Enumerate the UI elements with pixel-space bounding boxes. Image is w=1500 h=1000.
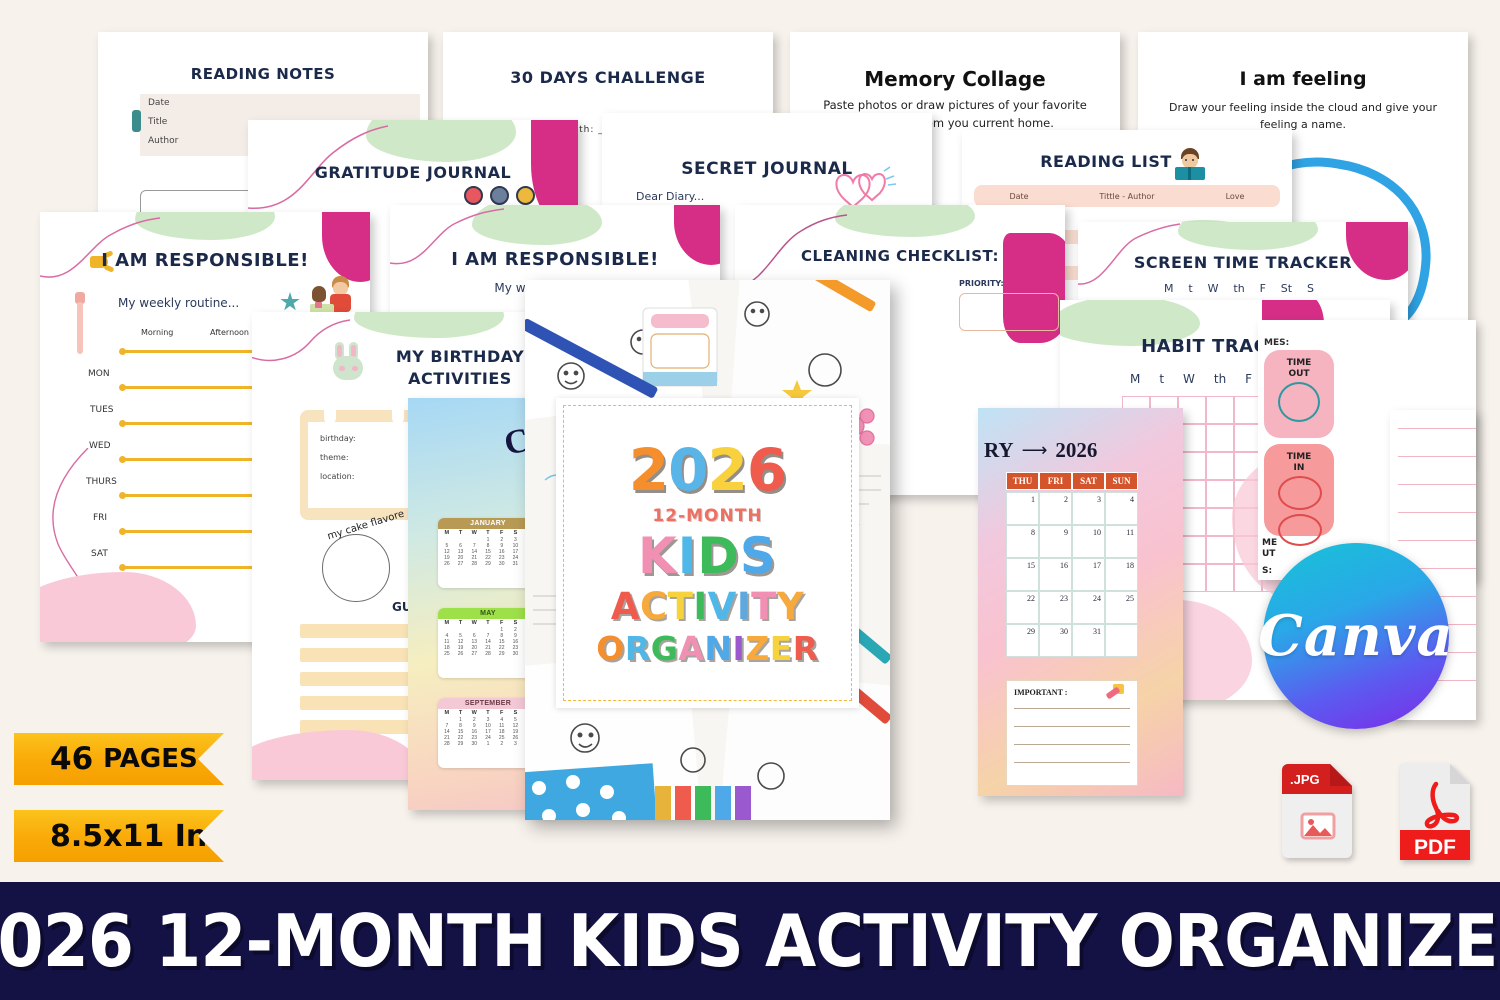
st-day-f: F bbox=[1260, 282, 1266, 295]
i-am-responsible-title: I AM RESPONSIBLE! bbox=[40, 250, 370, 271]
cover-organizer-char: O bbox=[596, 629, 625, 668]
cover-year-char: 2 bbox=[629, 436, 668, 504]
toothbrush-icon bbox=[71, 292, 89, 356]
ht-day-w: W bbox=[1183, 372, 1195, 386]
mini-calendar-september[interactable]: SEPTEMBER MTWTFSS 123456 78910111213 141… bbox=[438, 698, 538, 768]
day-tues: TUES bbox=[90, 405, 113, 415]
label-me-ut: MEUT bbox=[1262, 538, 1277, 560]
cover-activity: ACTIVITY bbox=[611, 588, 804, 625]
jpg-file-icon[interactable]: .JPG bbox=[1278, 762, 1356, 862]
day-wed: WED bbox=[89, 441, 111, 451]
cover-kids-char: S bbox=[740, 527, 777, 585]
routine-dot bbox=[119, 564, 126, 571]
i-am-feeling-subtitle: Draw your feeling inside the cloud and g… bbox=[1158, 100, 1448, 133]
reading-list-title: READING LIST bbox=[962, 152, 1292, 171]
cover-organizer-char: R bbox=[793, 629, 819, 668]
st-day-th: th bbox=[1233, 282, 1244, 295]
st-day-st: St bbox=[1281, 282, 1292, 295]
routine-dot bbox=[119, 492, 126, 499]
lined-row bbox=[1398, 484, 1476, 485]
label-s: S: bbox=[1262, 566, 1272, 576]
day-sun: SUN bbox=[91, 585, 110, 595]
clip-right-icon bbox=[392, 402, 404, 424]
st-day-s: S bbox=[1307, 282, 1314, 295]
lined-row bbox=[1398, 428, 1476, 429]
cover-kids-char: K bbox=[638, 527, 678, 585]
month-year: 2026 bbox=[1055, 438, 1097, 463]
cover-organizer-char: N bbox=[704, 629, 732, 668]
pages-count: 46 bbox=[50, 741, 93, 777]
mcal-cell: 29 bbox=[1006, 624, 1039, 657]
cover-kids-char: D bbox=[697, 527, 740, 585]
mcal-col-thu: THU bbox=[1006, 472, 1039, 490]
label-priority: PRIORITY: bbox=[959, 279, 1004, 288]
svg-text:PDF: PDF bbox=[1414, 836, 1456, 859]
cover-organizer-char: Z bbox=[745, 629, 769, 668]
mini-calendar-january[interactable]: JANUARY MTWTFSS 1234 567891011 121314151… bbox=[438, 518, 538, 588]
mcal-cell: 30 bbox=[1039, 624, 1072, 657]
reading-notes-field-date: Date bbox=[148, 98, 170, 108]
mcal-cell: 4 bbox=[1105, 492, 1138, 525]
mcal-cell: 17 bbox=[1072, 558, 1105, 591]
pages-count-ribbon: 46 PAGES bbox=[14, 733, 224, 785]
col-morning: Morning bbox=[141, 328, 173, 337]
mini-calendar-may[interactable]: MAY MTWTFSS 123 45678910 11121314151617 … bbox=[438, 608, 538, 678]
label-time-in: TIMEIN bbox=[1270, 452, 1328, 474]
cover-organizer-char: A bbox=[678, 629, 704, 668]
red-circle-icon-2 bbox=[1278, 514, 1322, 546]
month-title-row: RY ⟶ 2026 bbox=[984, 438, 1097, 463]
cleaning-checklist-title: CLEANING CHECKLIST: bbox=[735, 247, 1065, 265]
gratitude-journal-title: GRATITUDE JOURNAL bbox=[248, 163, 578, 182]
ht-day-f: F bbox=[1245, 372, 1252, 386]
secret-journal-sub: Dear Diary... bbox=[636, 190, 704, 203]
important-line bbox=[1014, 744, 1130, 745]
size-ribbon: 8.5x11 In bbox=[14, 810, 224, 862]
i-am-responsible-2-title: I AM RESPONSIBLE! bbox=[390, 249, 720, 270]
mcal-cell bbox=[1105, 624, 1138, 657]
pink-blob bbox=[40, 572, 196, 642]
mcal-cell: 16 bbox=[1039, 558, 1072, 591]
month-name-fragment: RY bbox=[984, 438, 1014, 463]
mcal-col-fri: FRI bbox=[1039, 472, 1072, 490]
mcal-cell: 22 bbox=[1006, 591, 1039, 624]
green-blob-5 bbox=[472, 205, 602, 245]
footer-banner: 2026 12-MONTH KIDS ACTIVITY ORGANIZER bbox=[0, 882, 1500, 1000]
cover-organizer-char: E bbox=[770, 629, 793, 668]
challenge-title: 30 DAYS CHALLENGE bbox=[443, 68, 773, 87]
mcal-cell: 2 bbox=[1039, 492, 1072, 525]
st-day-m: M bbox=[1164, 282, 1174, 295]
green-blob bbox=[366, 120, 516, 162]
reading-notes-field-title: Title bbox=[148, 117, 167, 127]
cover-organizer: ORGANIZER bbox=[596, 632, 818, 665]
label-time-out: TIMEOUT bbox=[1270, 358, 1328, 380]
routine-dot bbox=[119, 420, 126, 427]
cover-activity-char: C bbox=[640, 585, 668, 628]
monthly-calendar-grid[interactable]: 1234 891011 15161718 22232425 293031 bbox=[1006, 492, 1138, 657]
st-day-w: W bbox=[1208, 282, 1219, 295]
footer-title: 2026 12-MONTH KIDS ACTIVITY ORGANIZER bbox=[0, 899, 1500, 983]
mini-cal-month: JANUARY bbox=[438, 518, 538, 529]
cover-subtitle: 12-MONTH bbox=[652, 506, 762, 526]
important-label: IMPORTANT : bbox=[1014, 688, 1067, 697]
important-line bbox=[1014, 726, 1130, 727]
green-blob-7 bbox=[835, 205, 975, 237]
i-am-responsible-subtitle: My weekly routine... bbox=[118, 296, 239, 310]
routine-dot bbox=[119, 456, 126, 463]
emoji-blue-icon bbox=[490, 186, 509, 205]
lined-row bbox=[1398, 540, 1476, 541]
mcal-cell: 8 bbox=[1006, 525, 1039, 558]
mcal-cell: 25 bbox=[1105, 591, 1138, 624]
cover-year-char: 6 bbox=[747, 436, 786, 504]
routine-dot bbox=[119, 528, 126, 535]
cover-year: 2026 bbox=[629, 441, 786, 499]
tree-icon bbox=[132, 110, 141, 132]
field-birthday: birthday: bbox=[320, 434, 356, 443]
cover-kids-char: I bbox=[678, 527, 698, 585]
cover-activity-char: I bbox=[693, 585, 707, 628]
ht-day-t: t bbox=[1159, 372, 1164, 386]
day-fri: FRI bbox=[93, 513, 107, 523]
routine-dot bbox=[119, 384, 126, 391]
canva-label: Canva bbox=[1258, 603, 1453, 669]
mcal-cell: 11 bbox=[1105, 525, 1138, 558]
mcal-cell: 23 bbox=[1039, 591, 1072, 624]
star-icon bbox=[280, 292, 300, 312]
routine-dot bbox=[119, 348, 126, 355]
cover-mockup[interactable]: 2026 12-MONTH KIDS ACTIVITY ORGANIZER bbox=[525, 280, 890, 820]
arrow-icon: ⟶ bbox=[1022, 440, 1048, 461]
day-thurs: THURS bbox=[86, 477, 117, 487]
label-mes: MES: bbox=[1264, 338, 1289, 348]
cake-flavor-circle[interactable] bbox=[322, 534, 390, 602]
col-love: Love bbox=[1190, 192, 1280, 201]
mcal-col-sat: SAT bbox=[1072, 472, 1105, 490]
canva-badge[interactable]: Canva bbox=[1263, 543, 1449, 729]
mini-cal-days: 123 45678910 11121314151617 181920212223… bbox=[438, 626, 538, 659]
st-day-t: t bbox=[1188, 282, 1192, 295]
emoji-row bbox=[464, 186, 535, 205]
emoji-yellow-icon bbox=[516, 186, 535, 205]
cover-activity-char: I bbox=[737, 585, 751, 628]
ht-day-m: M bbox=[1130, 372, 1140, 386]
mcal-cell: 18 bbox=[1105, 558, 1138, 591]
screen-time-tracker-title: SCREEN TIME TRACKER bbox=[1078, 253, 1408, 272]
pages-label: PAGES bbox=[103, 744, 198, 774]
lined-row bbox=[1398, 456, 1476, 457]
mini-cal-days: 123456 78910111213 14151617181920 212223… bbox=[438, 716, 538, 749]
lined-row bbox=[1398, 512, 1476, 513]
priority-box[interactable] bbox=[959, 293, 1059, 331]
day-sat: SAT bbox=[91, 549, 108, 559]
cover-activity-char: A bbox=[611, 585, 640, 628]
screen-time-daysrow: M t W th F St S bbox=[1164, 282, 1314, 295]
cover-year-char: 0 bbox=[668, 436, 707, 504]
size-label: 8.5x11 In bbox=[50, 819, 207, 854]
mcal-cell: 31 bbox=[1072, 624, 1105, 657]
cover-organizer-char: I bbox=[733, 629, 746, 668]
mini-cal-month: SEPTEMBER bbox=[438, 698, 538, 709]
mcal-col-sun: SUN bbox=[1105, 472, 1138, 490]
mcal-cell: 1 bbox=[1006, 492, 1039, 525]
green-blob-8 bbox=[1178, 222, 1318, 250]
red-circle-icon bbox=[1278, 476, 1322, 510]
mcal-cell: 24 bbox=[1072, 591, 1105, 624]
pink-blob-2 bbox=[252, 730, 424, 780]
clip-left-icon bbox=[324, 402, 336, 424]
cover-organizer-char: R bbox=[625, 629, 651, 668]
reading-notes-field-author: Author bbox=[148, 136, 178, 146]
field-location: location: bbox=[320, 472, 354, 481]
mcal-cell: 9 bbox=[1039, 525, 1072, 558]
mcal-cell: 15 bbox=[1006, 558, 1039, 591]
field-theme: theme: bbox=[320, 453, 349, 462]
poster-canvas: READING NOTES Date Title Author WHAT IS … bbox=[0, 0, 1500, 1000]
important-line bbox=[1014, 708, 1130, 709]
green-blob-4 bbox=[135, 212, 275, 240]
pdf-file-icon[interactable]: PDF bbox=[1396, 762, 1474, 862]
monthly-calendar-header: THU FRI SAT SUN bbox=[1006, 472, 1138, 490]
mini-cal-month: MAY bbox=[438, 608, 538, 619]
cover-title-card: 2026 12-MONTH KIDS ACTIVITY ORGANIZER bbox=[556, 398, 859, 708]
reading-list-table-header: Date Tittle - Author Love bbox=[974, 185, 1280, 207]
i-am-feeling-title: I am feeling bbox=[1138, 68, 1468, 90]
cover-organizer-char: G bbox=[651, 629, 679, 668]
teal-circle-icon bbox=[1278, 382, 1320, 422]
green-blob-9 bbox=[354, 312, 504, 338]
cover-year-char: 2 bbox=[708, 436, 747, 504]
emoji-red-icon bbox=[464, 186, 483, 205]
pencil-icon bbox=[1106, 684, 1126, 702]
cover-kids: KIDS bbox=[638, 531, 777, 581]
page-monthly-calendar[interactable]: RY ⟶ 2026 THU FRI SAT SUN 1234 891011 15… bbox=[978, 408, 1183, 796]
ht-day-th: th bbox=[1214, 372, 1226, 386]
boy-reading-icon bbox=[1174, 148, 1206, 182]
cover-activity-char: T bbox=[668, 585, 694, 628]
magenta-blob-5 bbox=[322, 212, 370, 282]
reading-notes-title: READING NOTES bbox=[98, 65, 428, 83]
important-line bbox=[1014, 762, 1130, 763]
svg-text:.JPG: .JPG bbox=[1290, 772, 1320, 787]
cover-activity-char: V bbox=[708, 585, 737, 628]
cover-activity-char: T bbox=[751, 585, 777, 628]
mcal-cell: 3 bbox=[1072, 492, 1105, 525]
day-mon: MON bbox=[88, 369, 110, 379]
mini-cal-days: 1234 567891011 12131415161718 1920212223… bbox=[438, 536, 538, 569]
col-title-author: Tittle - Author bbox=[1064, 192, 1190, 201]
mcal-cell: 10 bbox=[1072, 525, 1105, 558]
col-date: Date bbox=[974, 192, 1064, 201]
col-afternoon: Afternoon bbox=[210, 328, 249, 337]
memory-collage-title: Memory Collage bbox=[790, 67, 1120, 91]
cover-activity-char: Y bbox=[777, 585, 804, 628]
